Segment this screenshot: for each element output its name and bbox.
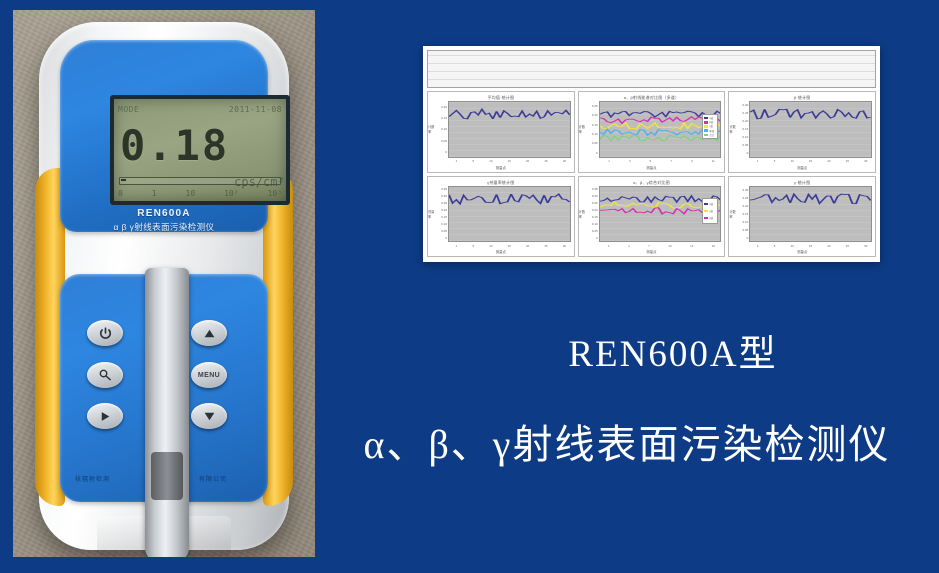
report-chart: 平均值·统计图计数率0.200.150.100.050151015202530测… <box>427 91 575 173</box>
report-chart-xtick: 1 <box>456 244 458 248</box>
power-button[interactable] <box>87 320 123 346</box>
report-chart-ytick: 0.15 <box>592 215 598 219</box>
report-chart-xlabel: 测量点 <box>646 249 656 254</box>
up-button[interactable] <box>191 320 227 346</box>
product-photo: MODE 2011-11-08 0.18 cps/cm² 0 1 10 10² … <box>13 10 315 557</box>
report-chart-ytick: 0 <box>747 236 749 240</box>
legend-color-swatch <box>704 125 708 128</box>
report-chart-xtick: 1 <box>456 159 458 163</box>
device-footer-right: 有限公司 <box>199 474 227 483</box>
report-chart-xtick: 15 <box>508 244 511 248</box>
triangle-up-icon <box>202 327 217 340</box>
legend-color-swatch <box>704 134 708 137</box>
report-chart-xtick: 15 <box>508 159 511 163</box>
report-chart-ytick: 0.20 <box>441 208 447 212</box>
software-report-screenshot: 平均值·统计图计数率0.200.150.100.050151015202530测… <box>423 46 880 262</box>
report-chart-xtick: 11 <box>712 159 715 163</box>
report-chart-xtick: 1 <box>757 244 759 248</box>
report-chart-xtick: 25 <box>544 159 547 163</box>
report-data-table <box>427 50 876 88</box>
report-chart-xtick: 16 <box>712 244 715 248</box>
report-chart-xtick: 7 <box>648 244 650 248</box>
report-chart-xtick: 10 <box>791 244 794 248</box>
product-model-title: REN600A型 <box>423 323 923 377</box>
report-chart-xtick: 30 <box>864 159 867 163</box>
hand-strap-clip <box>151 452 183 500</box>
lcd-scale-tick: 10² <box>224 189 238 198</box>
report-chart-ytick: 0 <box>445 236 447 240</box>
report-chart-yticks: 0.300.250.200.150.100.050 <box>738 186 749 243</box>
lcd-screen: MODE 2011-11-08 0.18 cps/cm² 0 1 10 10² … <box>110 95 290 205</box>
report-chart-body: 计数率0.250.200.150.100.050α道β道γ道本底合计 <box>579 101 725 158</box>
report-chart-legend: α道γ道β道 <box>702 198 718 223</box>
report-chart-yticks: 0.200.150.100.050 <box>437 101 448 158</box>
report-chart-ytick: 0.25 <box>592 201 598 205</box>
report-chart-xtick: 20 <box>827 159 830 163</box>
lcd-scale-tick: 10 <box>186 189 196 198</box>
report-chart-body: 剂量率0.350.300.250.200.150.100.050 <box>428 186 574 243</box>
report-chart-ytick: 0.05 <box>592 141 598 145</box>
play-button[interactable] <box>87 403 123 429</box>
report-chart-ytick: 0.15 <box>441 116 447 120</box>
report-chart-xticks: 151015202530 <box>729 158 875 165</box>
detector-device-body: MODE 2011-11-08 0.18 cps/cm² 0 1 10 10² … <box>39 22 289 550</box>
lcd-status-bar: MODE 2011-11-08 <box>118 101 282 117</box>
report-chart-ytick: 0.10 <box>592 222 598 226</box>
report-chart-xlabel: 测量点 <box>496 249 506 254</box>
report-chart-xticks: 151015202530 <box>428 158 574 165</box>
report-chart-ytick: 0.15 <box>742 212 748 216</box>
lcd-scale-tick: 1 <box>152 189 157 198</box>
report-chart-body: 计数率0.300.250.200.150.100.050 <box>729 186 875 243</box>
report-chart-ytick: 0.35 <box>441 187 447 191</box>
menu-text-icon: MENU <box>198 372 220 379</box>
report-chart-ytick: 0.05 <box>441 229 447 233</box>
legend-color-swatch <box>704 217 708 220</box>
report-chart-xtick: 30 <box>864 244 867 248</box>
legend-color-swatch <box>704 203 708 206</box>
legend-label: α道 <box>709 202 713 206</box>
report-chart-xtick: 25 <box>544 244 547 248</box>
report-chart-xtick: 10 <box>668 244 671 248</box>
report-chart-plot <box>448 186 571 243</box>
report-chart-ytick: 0.25 <box>592 104 598 108</box>
report-chart-plot: α道β道γ道本底合计 <box>599 101 722 158</box>
device-footer-left: 核辐射检测 <box>75 474 110 483</box>
report-chart-ytick: 0 <box>596 236 598 240</box>
product-name-title: α、β、γ射线表面污染检测仪 <box>315 412 939 470</box>
magnifier-icon <box>97 368 113 382</box>
report-chart: γ剂量率统计图剂量率0.350.300.250.200.150.100.0501… <box>427 176 575 258</box>
legend-label: β道 <box>709 216 713 220</box>
device-description-text: α β γ射线表面污染检测仪 <box>60 221 268 233</box>
report-chart-yticks: 0.350.300.250.200.150.100.050 <box>437 186 448 243</box>
legend-color-swatch <box>704 210 708 213</box>
report-chart: α、β射线能谱对比图（多道）计数率0.250.200.150.100.050α道… <box>578 91 726 173</box>
report-chart-ytick: 0.25 <box>441 201 447 205</box>
report-chart-xtick: 9 <box>691 159 693 163</box>
report-chart-xtick: 1 <box>608 159 610 163</box>
report-chart-legend-item: β道 <box>704 216 716 220</box>
report-chart-xtick: 25 <box>846 244 849 248</box>
report-chart-xlabel: 测量点 <box>797 165 807 170</box>
report-chart-xticks: 151015202530 <box>729 242 875 249</box>
report-chart-ytick: 0.30 <box>742 188 748 192</box>
triangle-right-icon <box>98 410 112 423</box>
device-model-text: REN600A <box>60 208 268 219</box>
report-chart-xtick: 20 <box>526 159 529 163</box>
report-chart-legend-item: γ道 <box>704 209 716 213</box>
report-chart-ylabel: 计数率 <box>729 101 738 158</box>
report-chart-plot <box>448 101 571 158</box>
report-chart-grid: 平均值·统计图计数率0.200.150.100.050151015202530测… <box>427 91 876 257</box>
report-chart-xtick: 15 <box>809 159 812 163</box>
light-button[interactable] <box>87 362 123 388</box>
report-chart-ytick: 0.30 <box>592 194 598 198</box>
report-chart-plot: α道γ道β道 <box>599 186 722 243</box>
report-chart-plot <box>749 101 872 158</box>
report-chart-xtick: 5 <box>472 159 474 163</box>
report-chart-ytick: 0.05 <box>742 228 748 232</box>
lcd-bargraph <box>119 177 281 185</box>
report-chart-ytick: 0.10 <box>742 220 748 224</box>
report-chart-yticks: 0.300.250.200.150.100.050 <box>738 101 749 158</box>
report-chart-xticks: 147101316 <box>579 242 725 249</box>
lcd-scale-tick: 0 <box>118 189 123 198</box>
report-chart-ytick: 0.25 <box>742 111 748 115</box>
report-chart-plot <box>749 186 872 243</box>
report-chart-ytick: 0.05 <box>742 143 748 147</box>
menu-button[interactable]: MENU <box>191 362 227 388</box>
report-chart-xtick: 4 <box>628 244 630 248</box>
report-chart-xtick: 5 <box>774 244 776 248</box>
legend-label: γ道 <box>709 209 713 213</box>
report-chart-xtick: 10 <box>489 159 492 163</box>
report-chart-ytick: 0.05 <box>592 229 598 233</box>
report-chart-ylabel: 计数率 <box>579 186 588 243</box>
report-chart-xtick: 7 <box>670 159 672 163</box>
report-chart-xtick: 25 <box>846 159 849 163</box>
report-chart-ytick: 0.15 <box>742 127 748 131</box>
lcd-status-date: 2011-11-08 <box>229 105 282 114</box>
report-chart-ytick: 0.20 <box>742 119 748 123</box>
report-chart-ytick: 0.15 <box>592 123 598 127</box>
report-chart-xtick: 10 <box>791 159 794 163</box>
legend-color-swatch <box>704 129 708 132</box>
report-chart-xlabel: 测量点 <box>496 165 506 170</box>
report-chart-ytick: 0 <box>596 151 598 155</box>
device-brand-label: REN600A α β γ射线表面污染检测仪 <box>60 208 268 233</box>
report-chart-ylabel: 计数率 <box>729 186 738 243</box>
report-chart-ytick: 0.20 <box>742 204 748 208</box>
report-chart-ytick: 0.05 <box>441 139 447 143</box>
legend-label: 合计 <box>709 133 714 137</box>
report-chart-xtick: 30 <box>563 244 566 248</box>
lcd-scale-tick: 10³ <box>268 189 282 198</box>
report-chart-ytick: 0.10 <box>441 222 447 226</box>
report-chart-ytick: 0.10 <box>441 127 447 131</box>
report-chart: α、β、γ综合对比图计数率0.350.300.250.200.150.100.0… <box>578 176 726 258</box>
report-chart-xtick: 15 <box>809 244 812 248</box>
report-chart-ylabel: 计数率 <box>428 101 437 158</box>
report-chart-legend-item: 合计 <box>704 133 716 137</box>
report-chart-xtick: 20 <box>526 244 529 248</box>
report-chart-body: 计数率0.200.150.100.050 <box>428 101 574 158</box>
report-chart-ytick: 0.10 <box>742 135 748 139</box>
report-chart-ytick: 0.30 <box>742 103 748 107</box>
report-chart-xlabel: 测量点 <box>797 249 807 254</box>
report-chart-xtick: 30 <box>563 159 566 163</box>
report-chart-ytick: 0.20 <box>592 113 598 117</box>
report-chart-ytick: 0.20 <box>441 105 447 109</box>
report-chart-ytick: 0.15 <box>441 215 447 219</box>
lcd-scale: 0 1 10 10² 10³ <box>118 187 282 200</box>
report-chart-body: 计数率0.350.300.250.200.150.100.050α道γ道β道 <box>579 186 725 243</box>
report-chart-xtick: 5 <box>774 159 776 163</box>
report-chart-xtick: 3 <box>629 159 631 163</box>
report-chart-ylabel: 剂量率 <box>428 186 437 243</box>
hand-strap <box>145 268 189 557</box>
down-button[interactable] <box>191 403 227 429</box>
report-chart: β·统计图计数率0.300.250.200.150.100.0501510152… <box>728 91 876 173</box>
report-chart-legend-item: α道 <box>704 202 716 206</box>
report-chart-ytick: 0 <box>747 151 749 155</box>
report-chart-xticks: 1357911 <box>579 158 725 165</box>
power-icon <box>98 326 113 341</box>
lcd-status-mode: MODE <box>118 105 139 114</box>
report-chart-yticks: 0.250.200.150.100.050 <box>588 101 599 158</box>
report-chart-xtick: 5 <box>472 244 474 248</box>
report-chart: γ·统计图计数率0.300.250.200.150.100.0501510152… <box>728 176 876 258</box>
report-chart-ytick: 0.20 <box>592 208 598 212</box>
report-chart-xtick: 13 <box>690 244 693 248</box>
report-chart-xtick: 10 <box>489 244 492 248</box>
report-chart-xtick: 20 <box>827 244 830 248</box>
report-chart-xlabel: 测量点 <box>646 165 656 170</box>
report-chart-ytick: 0.35 <box>592 187 598 191</box>
lcd-reading: 0.18 cps/cm² <box>120 117 282 175</box>
report-chart-xtick: 5 <box>650 159 652 163</box>
report-chart-ytick: 0.30 <box>441 194 447 198</box>
report-chart-xtick: 1 <box>757 159 759 163</box>
report-chart-ylabel: 计数率 <box>579 101 588 158</box>
legend-color-swatch <box>704 121 708 124</box>
report-chart-body: 计数率0.300.250.200.150.100.050 <box>729 101 875 158</box>
report-chart-xticks: 151015202530 <box>428 242 574 249</box>
report-chart-legend: α道β道γ道本底合计 <box>702 114 718 139</box>
report-chart-ytick: 0.10 <box>592 132 598 136</box>
report-chart-ytick: 0.25 <box>742 196 748 200</box>
legend-color-swatch <box>704 117 708 120</box>
lcd-value: 0.18 <box>120 125 229 167</box>
report-chart-xtick: 1 <box>608 244 610 248</box>
report-chart-ytick: 0 <box>445 150 447 154</box>
report-chart-yticks: 0.350.300.250.200.150.100.050 <box>588 186 599 243</box>
triangle-down-icon <box>202 410 217 423</box>
